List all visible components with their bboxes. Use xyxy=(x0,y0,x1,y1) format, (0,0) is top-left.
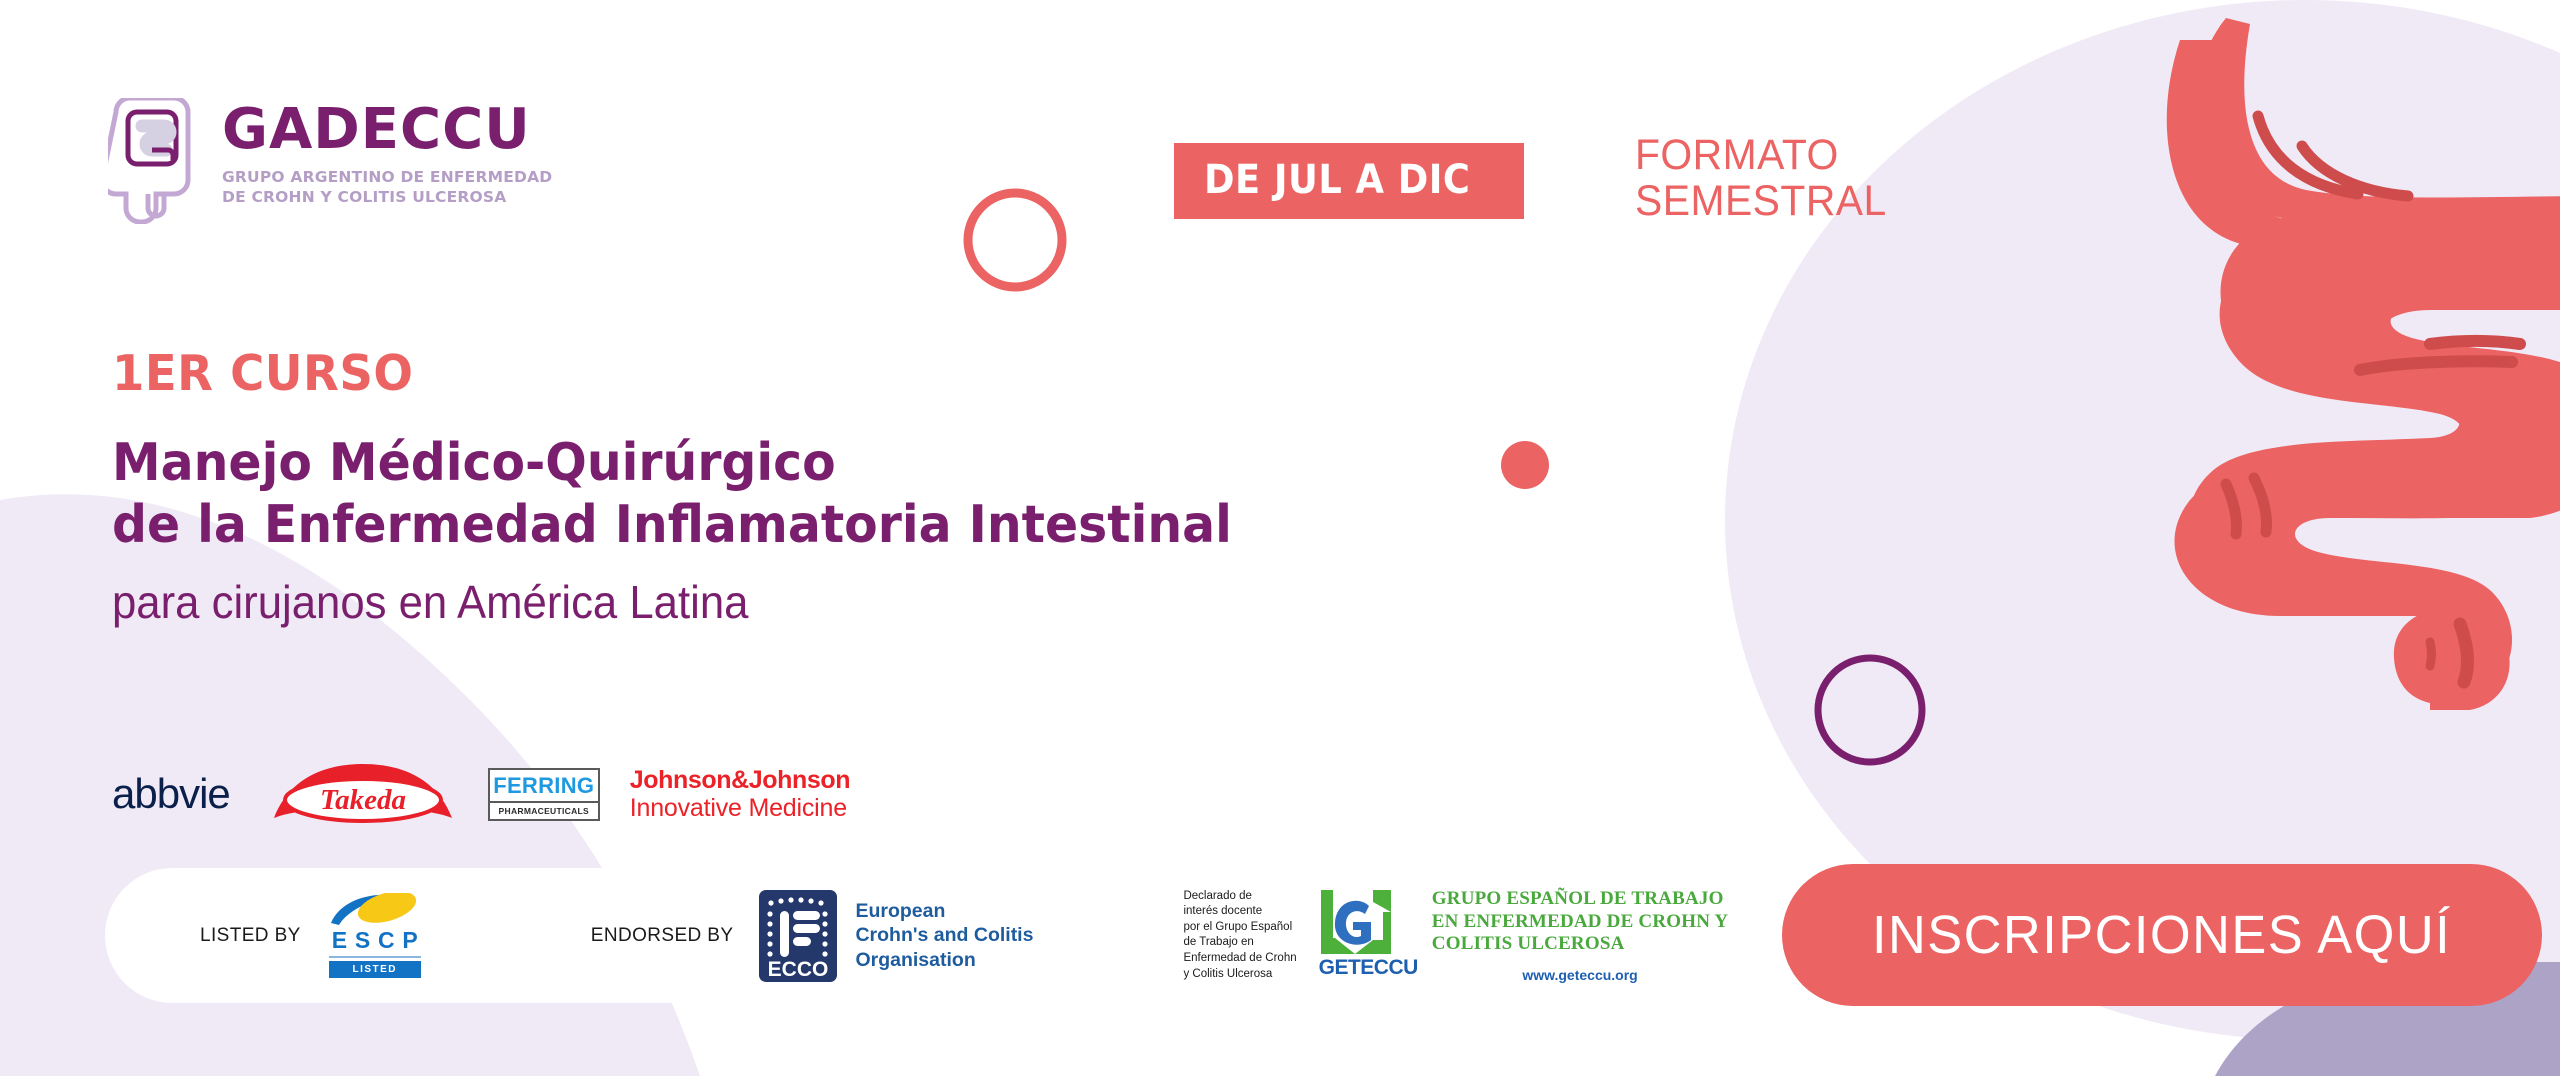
ecco-line-1: European xyxy=(855,899,1033,924)
declaration-line-1: Declarado de xyxy=(1183,889,1296,905)
ferring-subtitle: PHARMACEUTICALS xyxy=(490,801,598,819)
headline-kicker: 1ER CURSO xyxy=(112,345,1244,402)
ecco-emblem-icon: ECCO xyxy=(759,890,837,982)
promo-banner: GADECCU GRUPO ARGENTINO DE ENFERMEDAD DE… xyxy=(0,0,2560,1076)
ferring-name: FERRING xyxy=(490,770,598,801)
declaration-line-3: por el Grupo Español xyxy=(1183,920,1296,936)
escp-divider xyxy=(329,956,421,958)
declaration-line-2: interés docente xyxy=(1183,904,1296,920)
ecco-logo[interactable]: ECCO European Crohn's and Colitis Organi… xyxy=(759,890,1033,982)
sponsor-takeda-logo[interactable]: Takeda xyxy=(268,764,458,824)
listed-by-label: LISTED BY xyxy=(200,925,301,947)
headline-line-2: de la Enfermedad Inflamatoria Intestinal xyxy=(112,494,1232,556)
declaration-line-5: Enfermedad de Crohn xyxy=(1183,951,1296,967)
svg-text:ECCO: ECCO xyxy=(768,958,829,981)
jj-line-2: Innovative Medicine xyxy=(630,794,850,822)
geteccu-url[interactable]: www.geteccu.org xyxy=(1432,967,1729,983)
escp-letters: E S C P xyxy=(329,927,421,954)
date-badge-label: DE JUL A DIC xyxy=(1204,157,1470,203)
logo-wordmark: GADECCU xyxy=(222,102,552,158)
sponsor-ferring-logo[interactable]: FERRING PHARMACEUTICALS xyxy=(488,762,630,826)
geteccu-logo[interactable]: GETECCU GRUPO ESPAÑOL DE TRABAJO EN ENFE… xyxy=(1319,888,1729,983)
endorsement-row: LISTED BY E S C P LISTED ENDORSED BY xyxy=(105,868,1635,1003)
endorsed-by-label: ENDORSED BY xyxy=(591,925,734,947)
sponsor-johnson-and-johnson-logo[interactable]: Johnson&Johnson Innovative Medicine xyxy=(630,762,850,826)
escp-swoosh-icon xyxy=(329,893,421,927)
format-line-2: SEMESTRAL xyxy=(1635,178,1887,224)
purple-ring-icon xyxy=(1805,645,1935,775)
geteccu-declaration-text: Declarado de interés docente por el Grup… xyxy=(1183,889,1296,983)
headline-line-2-prefix: de la xyxy=(112,495,264,555)
headline-block: 1ER CURSO Manejo Médico-Quirúrgico de la… xyxy=(112,345,1303,629)
sponsor-abbvie-logo[interactable]: abbvie xyxy=(112,762,230,826)
geteccu-line-3: COLITIS ULCEROSA xyxy=(1432,933,1729,956)
date-badge: DE JUL A DIC xyxy=(1174,143,1524,219)
format-label: FORMATO SEMESTRAL xyxy=(1635,132,1900,225)
escp-letter-c: C xyxy=(378,927,395,954)
gadeccu-monogram-icon xyxy=(108,98,196,224)
headline-line-2-strong: Enfermedad Inflamatoria Intestinal xyxy=(264,495,1232,555)
escp-letter-p: P xyxy=(402,927,417,954)
svg-text:Takeda: Takeda xyxy=(320,784,406,816)
escp-letter-e: E xyxy=(332,927,347,954)
headline-line-3: para cirujanos en América Latina xyxy=(112,575,1244,629)
headline-line-1: Manejo Médico-Quirúrgico xyxy=(112,432,1232,494)
jj-line-1: Johnson&Johnson xyxy=(630,766,850,794)
ecco-name: European Crohn's and Colitis Organisatio… xyxy=(855,899,1033,973)
inscripciones-aqui-button[interactable]: INSCRIPCIONES AQUÍ xyxy=(1782,864,2542,1006)
escp-logo[interactable]: E S C P LISTED xyxy=(329,893,421,978)
ecco-line-3: Organisation xyxy=(855,948,1033,973)
coral-ring-icon xyxy=(955,180,1075,300)
logo-subtitle-line-2: DE CROHN Y COLITIS ULCEROSA xyxy=(222,187,552,207)
gadeccu-logo[interactable]: GADECCU GRUPO ARGENTINO DE ENFERMEDAD DE… xyxy=(108,98,552,224)
geteccu-acronym: GETECCU xyxy=(1319,956,1418,980)
cta-label: INSCRIPCIONES AQUÍ xyxy=(1872,904,2451,966)
format-line-1: FORMATO xyxy=(1635,132,1887,178)
geteccu-line-2: EN ENFERMEDAD DE CROHN Y xyxy=(1432,911,1729,934)
ecco-line-2: Crohn's and Colitis xyxy=(855,923,1033,948)
logo-subtitle: GRUPO ARGENTINO DE ENFERMEDAD DE CROHN Y… xyxy=(222,167,552,208)
declaration-line-4: de Trabajo en xyxy=(1183,935,1296,951)
declaration-line-6: y Colitis Ulcerosa xyxy=(1183,967,1296,983)
logo-subtitle-line-1: GRUPO ARGENTINO DE ENFERMEDAD xyxy=(222,167,552,187)
coral-dot-icon xyxy=(1490,430,1560,500)
geteccu-g-icon xyxy=(1319,888,1393,956)
intestine-icon xyxy=(2130,10,2560,710)
geteccu-line-1: GRUPO ESPAÑOL DE TRABAJO xyxy=(1432,888,1729,911)
escp-listed-badge: LISTED xyxy=(329,961,421,978)
escp-letter-s: S xyxy=(355,927,370,954)
sponsor-logo-row: abbvie Takeda FERRING PHARMACEUTICALS Jo… xyxy=(112,762,850,826)
geteccu-name: GRUPO ESPAÑOL DE TRABAJO EN ENFERMEDAD D… xyxy=(1432,888,1729,956)
